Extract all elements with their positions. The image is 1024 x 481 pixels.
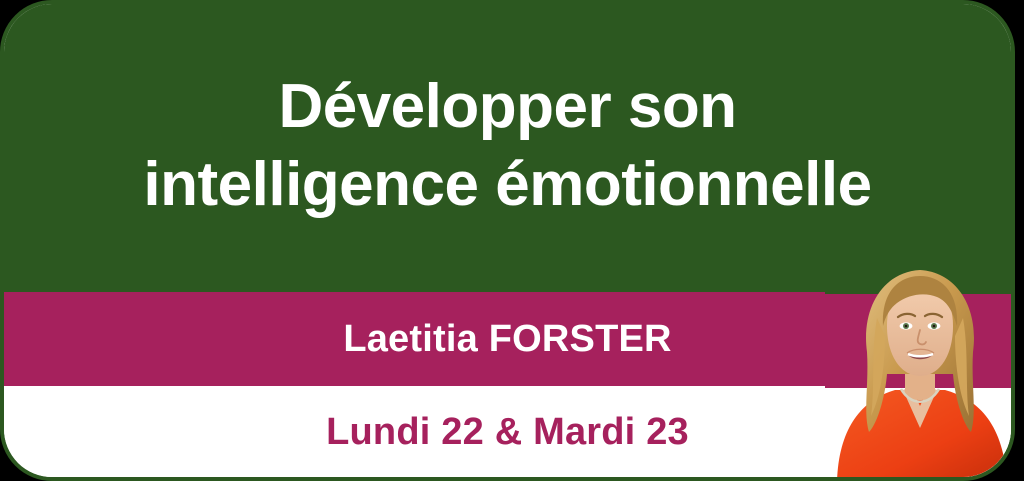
event-dates: Lundi 22 & Mardi 23 [326, 411, 689, 454]
speaker-name: Laetitia FORSTER [343, 318, 671, 361]
headline-line-1: Développer son [278, 68, 736, 146]
speaker-portrait-icon [825, 256, 1015, 481]
event-card: Développer son intelligence émotionnelle… [0, 0, 1015, 481]
headline-block: Développer son intelligence émotionnelle [0, 0, 1015, 292]
headline-line-2: intelligence émotionnelle [143, 146, 871, 224]
portrait-container [825, 256, 1015, 481]
